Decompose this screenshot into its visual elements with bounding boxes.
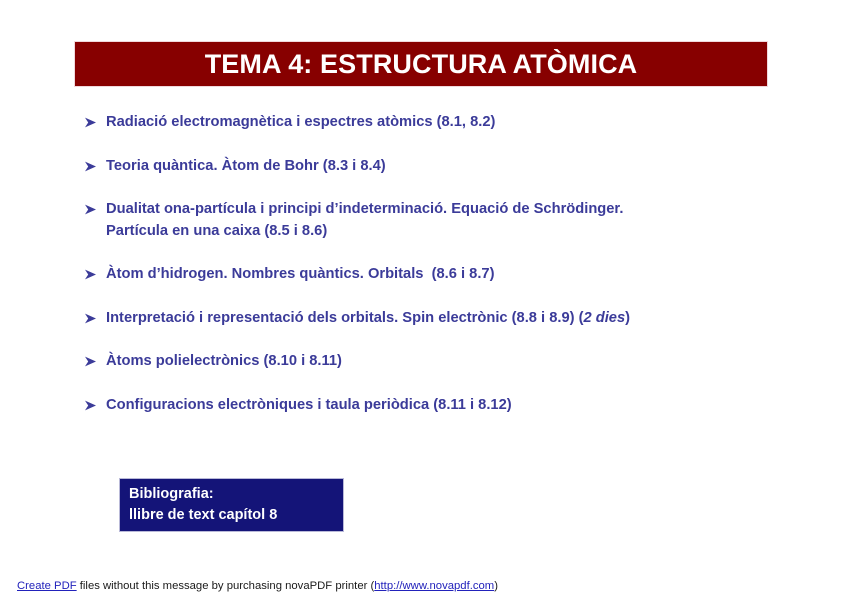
list-item: Dualitat ona-partícula i principi d’inde… [84,199,784,242]
arrow-bullet-icon [84,395,106,411]
list-item-label: Àtoms polielectrònics (8.10 i 8.11) [106,351,784,373]
list-item-suffix: ) [625,310,630,326]
arrow-bullet-icon [84,351,106,367]
list-item-line: Partícula en una caixa (8.5 i 8.6) [106,223,327,239]
topic-list: Radiació electromagnètica i espectres at… [84,112,784,438]
arrow-bullet-icon [84,264,106,280]
list-item-label: Teoria quàntica. Àtom de Bohr (8.3 i 8.4… [106,156,784,178]
list-item: Radiació electromagnètica i espectres at… [84,112,784,134]
list-item-label: Radiació electromagnètica i espectres at… [106,112,784,134]
list-item-label: Àtom d’hidrogen. Nombres quàntics. Orbit… [106,264,784,286]
bibliography-box: Bibliografia: llibre de text capítol 8 [119,478,344,532]
list-item-label: Interpretació i representació dels orbit… [106,308,784,330]
watermark-text: files without this message by purchasing… [77,580,375,592]
arrow-bullet-icon [84,308,106,324]
list-item: Configuracions electròniques i taula per… [84,395,784,417]
novapdf-url-link[interactable]: http://www.novapdf.com [374,580,494,592]
bibliography-reference: llibre de text capítol 8 [129,505,343,526]
list-item: Interpretació i representació dels orbit… [84,308,784,330]
list-item: Àtom d’hidrogen. Nombres quàntics. Orbit… [84,264,784,286]
create-pdf-link[interactable]: Create PDF [17,580,77,592]
list-item-label: Configuracions electròniques i taula per… [106,395,784,417]
bibliography-heading: Bibliografia: [129,484,343,505]
arrow-bullet-icon [84,199,106,215]
novapdf-watermark: Create PDF files without this message by… [17,580,498,592]
list-item-line: Dualitat ona-partícula i principi d’inde… [106,201,623,217]
list-item-label: Dualitat ona-partícula i principi d’inde… [106,199,784,242]
list-item: Teoria quàntica. Àtom de Bohr (8.3 i 8.4… [84,156,784,178]
watermark-text-end: ) [494,580,498,592]
list-item-prefix: Interpretació i representació dels orbit… [106,310,584,326]
list-item: Àtoms polielectrònics (8.10 i 8.11) [84,351,784,373]
arrow-bullet-icon [84,112,106,128]
slide-canvas: TEMA 4: ESTRUCTURA ATÒMICA Radiació elec… [0,0,848,600]
list-item-emphasis: 2 dies [584,310,626,326]
slide-title-banner: TEMA 4: ESTRUCTURA ATÒMICA [74,41,768,87]
page-title: TEMA 4: ESTRUCTURA ATÒMICA [205,51,638,78]
list-item-line: Àtom d’hidrogen. Nombres quàntics. Orbit… [106,266,494,282]
arrow-bullet-icon [84,156,106,172]
